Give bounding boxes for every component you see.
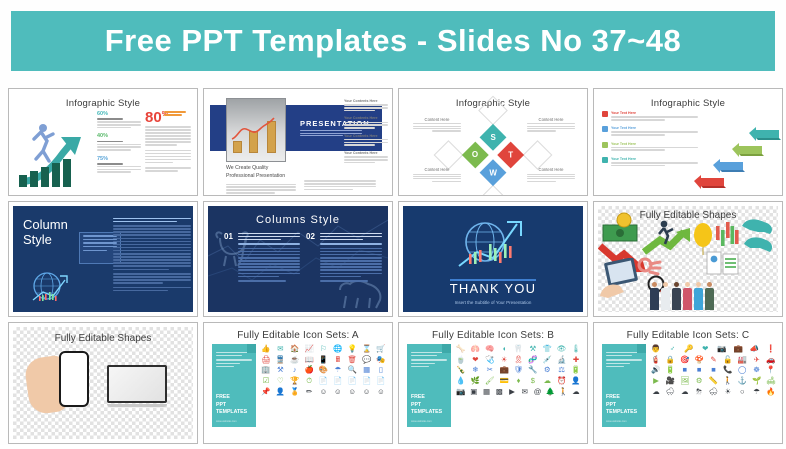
printer-icon[interactable]: 🖨 [261,356,271,364]
icon-row: 🔊🔋■■■📞◯☸📍 [651,366,776,374]
slide-thumbnail-42[interactable]: Columns Style 01 02 [203,201,393,317]
trophy-icon[interactable]: 🏅 [290,388,300,396]
camera-icon[interactable]: 📷 [456,388,466,396]
arrow-3d-teal [749,125,783,141]
cloud-icon[interactable]: ☁ [542,377,552,385]
camera-icon[interactable]: 📷 [717,345,727,353]
swot-caption-br: Content Here [527,167,575,183]
smile-icon[interactable]: ☺ [319,388,329,396]
sofa-icon[interactable]: 🛋 [766,377,776,385]
megaphone-icon[interactable]: 📣 [750,345,760,353]
arrow-3d-green [732,141,766,157]
corner-notch [637,344,646,353]
bullet-item: Your Text Here [602,142,698,153]
dollar-icon[interactable]: $ [528,377,538,385]
snowflake-icon[interactable]: ❄ [470,366,480,374]
extinguisher-icon[interactable]: 🧯 [651,356,661,364]
list-item: Your Contents Here [344,134,388,146]
bullet-marker-icon [602,111,608,117]
smile-icon[interactable]: ☺ [333,388,343,396]
cart-icon[interactable]: 🛒 [376,345,386,353]
swot-caption-tl: Content Here [413,117,461,133]
building-icon[interactable]: 🏢 [261,366,271,374]
arrow-3d-blue [713,157,747,173]
frame-icon[interactable]: ▯ [376,366,386,374]
file-icon[interactable]: 📄 [319,377,329,385]
facebook-icon[interactable]: ▦ [482,388,492,396]
bullet-label: Your Text Here [611,126,698,130]
icon-row: 🖨🚆☕📖📱🖩🗑💬🎭 [261,356,386,364]
smile-icon[interactable]: ☺ [362,388,372,396]
clock-icon[interactable]: ⏰ [557,377,567,385]
battery-icon[interactable]: ■ [709,366,719,374]
slide-37-title: Infographic Style [9,98,197,109]
envelope-icon[interactable]: ✉ [275,345,285,353]
caption-text: We Create Quality Professional Presentat… [226,165,296,181]
brand-name: FREEPPTTEMPLATES [606,394,637,417]
icon-row: 📷▣▦▩▶✉@🌲🚶☁ [456,388,581,396]
flask-icon[interactable]: 💧 [456,377,466,385]
column-number-01: 01 [224,232,233,241]
businessman-icon [656,220,674,246]
umbrella-icon[interactable]: ☂ [333,366,343,374]
swot-s[interactable]: S [480,124,507,151]
battery-icon[interactable]: ■ [680,366,690,374]
icon-grid: 👍✉🏠📈⚐🌐💡⌛🛒 🖨🚆☕📖📱🖩🗑💬🎭 🏢⚒♪🍎🎨☂🔍▦▯ ☑♡🏆⏱📄📄📄📄📄 [261,345,386,398]
right-content-list: Your Contents Here Your Contents Here Yo… [344,99,388,165]
icon-row: 🏢⚒♪🍎🎨☂🔍▦▯ [261,366,386,374]
flag-icon[interactable]: ⚐ [319,345,329,353]
template-gallery-page: Free PPT Templates - Slides No 37~48 Inf… [0,0,786,445]
bulb-icon[interactable]: 💡 [347,345,357,353]
icon-row: 🧯🔒🎯🍄✎🔓🏭✈🚗 [651,356,776,364]
target-icon[interactable]: 🎯 [680,356,690,364]
plane-icon[interactable]: ✈ [752,356,762,364]
file-icon[interactable]: 📄 [333,377,343,385]
smartphone-mockup [59,351,89,407]
moon-icon[interactable]: ○ [737,388,747,396]
shield-icon[interactable]: 🛡 [514,366,524,374]
liver-icon[interactable]: ◖ [499,345,509,353]
tree-icon[interactable]: ⚒ [528,345,538,353]
transparent-canvas: Fully Editable Shapes [598,206,778,312]
icon-row: ☁🌧☁⛈🌨☀○☂🔥 [651,388,776,396]
phone-icon[interactable]: 📱 [319,356,329,364]
icon-row: 👍✉🏠📈⚐🌐💡⌛🛒 [261,345,386,353]
mask-icon[interactable]: 🎭 [376,356,386,364]
brand-name: FREEPPTTEMPLATES [411,394,442,417]
secondary-column [304,179,376,191]
paint-icon[interactable]: 🎨 [319,366,329,374]
person [672,282,681,310]
play-icon[interactable]: ▶ [651,377,661,385]
person-icon[interactable]: 👤 [275,388,285,396]
navy-background: THANK YOU Insert the Subtitle of Your Pr… [403,206,583,312]
page-title: Free PPT Templates - Slides No 37~48 [105,23,682,59]
documents-icon [706,250,740,276]
icon-grid: 🦴🫁🧠◖🦷⚒👕👁🌡 🍵❤🩺☀🎗🧬💉🔬✚ 🍾❄✂💼🛡🔧⚙⚖🔋 💧🌿🖌💳♦$☁⏰👤 … [456,345,581,398]
brand-url: www.website.com [411,420,432,423]
gear-icon[interactable]: ⚙ [694,377,704,385]
syringe-icon[interactable]: 💉 [542,356,552,364]
search-icon[interactable]: 🔍 [347,366,357,374]
cloud-icon[interactable]: ☁ [651,388,661,396]
thank-you-subtitle: Insert the Subtitle of Your Presentation [403,300,583,305]
trophy-icon[interactable]: 🏆 [290,377,300,385]
pin-icon[interactable]: 📌 [261,388,271,396]
plant-icon[interactable]: 🌱 [752,377,762,385]
key-icon[interactable]: 🔑 [684,345,694,353]
male-icon[interactable]: ♂ [667,345,677,353]
brand-name: FREEPPTTEMPLATES [216,394,247,417]
thank-you-title: THANK YOU [403,281,583,296]
icon-row: 💧🌿🖌💳♦$☁⏰👤 [456,377,581,385]
slide-41-title: ColumnStyle [23,218,68,248]
file-icon[interactable]: 📄 [362,377,372,385]
image-icon[interactable]: 🖼 [680,377,690,385]
slide-thumbnail-37[interactable]: Infographic Style 60% [8,88,198,196]
drop-icon[interactable]: ♦ [514,377,524,385]
bull-bear-icon [740,214,774,254]
slide-thumbnail-47[interactable]: Fully Editable Icon Sets: B FREEPPTTEMPL… [398,322,588,444]
file-icon[interactable]: 📄 [347,377,357,385]
bullet-item: Your Text Here [602,157,698,168]
bar-chart [19,159,71,187]
stat-list: 60% 40% 75% [97,111,141,174]
circle-icon[interactable]: ◯ [737,366,747,374]
person-icon[interactable]: 👤 [571,377,581,385]
fan-icon[interactable]: ☸ [752,366,762,374]
bullet-label: Your Text Here [611,157,698,161]
swot-caption-bl: Content Here [413,167,461,183]
home-icon[interactable]: 🏠 [290,345,300,353]
slide-40-title: Infographic Style [594,98,782,109]
column-body-01 [238,231,300,283]
scissors-icon[interactable]: ✂ [485,366,495,374]
gear-icon[interactable]: ⚙ [542,366,552,374]
grid-icon[interactable]: ▦ [362,366,372,374]
battery-icon[interactable]: ■ [694,366,704,374]
checkbox-icon[interactable]: ☑ [261,377,271,385]
trash-icon[interactable]: 🗑 [347,356,357,364]
swot-caption-tr: Content Here [527,117,575,133]
icon-row: 📌👤🏅✏☺☺☺☺☺ [261,388,386,396]
swot-o[interactable]: W [480,159,507,186]
cross-icon[interactable]: ✚ [571,356,581,364]
sun-icon[interactable]: ☀ [723,388,733,396]
slide-thumbnail-44[interactable]: Fully Editable Shapes [593,201,783,317]
car-icon[interactable]: 🚗 [766,356,776,364]
phone-icon[interactable]: 📞 [723,366,733,374]
stat-item: 60% [97,111,141,128]
instagram-icon[interactable]: ▣ [469,388,479,396]
arrow-3d-red [694,173,728,189]
youtube-icon[interactable]: ▶ [507,388,517,396]
alert-icon[interactable]: ❗ [766,345,776,353]
person [661,282,670,310]
umbrella-icon[interactable]: ☂ [752,388,762,396]
stat-percent: 75% [97,156,141,162]
icon-row: 👨♂🔑❤📷💼📣❗ [651,345,776,353]
laptop-mockup [107,365,167,407]
bullet-label: Your Text Here [611,111,698,115]
snow-icon[interactable]: 🌨 [709,388,719,396]
globe-chart-icon [443,214,543,276]
highlight-caption [164,110,192,117]
ribbon-icon[interactable]: 🎗 [514,356,524,364]
trend-line-icon [230,115,282,143]
brush-icon[interactable]: 🖌 [485,377,495,385]
bone-icon[interactable]: 🦴 [456,345,466,353]
anchor-icon[interactable]: ⚓ [737,377,747,385]
people-icon[interactable]: 👨 [651,345,661,353]
icon-row: 🍵❤🩺☀🎗🧬💉🔬✚ [456,356,581,364]
walk-icon[interactable]: 🚶 [558,388,568,396]
pin-icon[interactable]: 📍 [766,366,776,374]
thermometer-icon[interactable]: 🌡 [571,345,581,353]
cloud-icon[interactable]: ☁ [571,388,581,396]
bullet-list: Your Text Here Your Text Here [602,111,698,172]
card-icon[interactable]: 💳 [499,377,509,385]
brand-url: www.website.com [216,420,237,423]
slide-thumbnail-38[interactable]: PRESENTATION We Create Quality Professio… [203,88,393,196]
column-body-02 [320,231,382,283]
speaker-icon[interactable]: 🔊 [651,366,661,374]
slide-48-title: Fully Editable Icon Sets: C [594,330,782,341]
tooth-icon[interactable]: 🦷 [514,345,524,353]
heart-icon[interactable]: ❤ [700,345,710,353]
bag-icon[interactable]: 💼 [499,366,509,374]
lock-icon[interactable]: 🔓 [723,356,733,364]
storm-icon[interactable]: ⛈ [694,388,704,396]
swot-diagram: S T W O [462,124,524,186]
cup-icon[interactable]: ☕ [290,356,300,364]
body-copy [113,216,191,293]
bullet-label: Your Text Here [611,142,698,146]
thumb-up-icon[interactable]: 👍 [261,345,271,353]
bullet-marker-icon [602,142,608,148]
chart-icon[interactable]: 📈 [304,345,314,353]
stethoscope-icon[interactable]: 🩺 [485,356,495,364]
person [650,282,659,310]
factory-icon[interactable]: 🏭 [737,356,747,364]
clock-icon[interactable]: ⏱ [304,377,314,385]
file-icon[interactable]: 📄 [376,377,386,385]
at-icon[interactable]: @ [533,388,543,396]
chat-icon[interactable]: 💬 [362,356,372,364]
list-item: Your Contents Here [344,116,388,128]
list-item: Your Contents Here [344,99,388,111]
slide-42-title: Columns Style [208,214,388,226]
cloud-icon[interactable]: ☁ [680,388,690,396]
icon-row: ▶🎥🖼⚙📏🚶⚓🌱🛋 [651,377,776,385]
bullet-marker-icon [602,126,608,132]
bottle-icon[interactable]: 🍾 [456,366,466,374]
lungs-icon[interactable]: 🫁 [470,345,480,353]
brand-card: FREEPPTTEMPLATES www.website.com [602,344,646,427]
heart-icon[interactable]: ♡ [275,377,285,385]
brand-card: FREEPPTTEMPLATES www.website.com [407,344,451,427]
page-header-banner: Free PPT Templates - Slides No 37~48 [11,11,775,71]
coin-icon [616,212,632,228]
list-item: Your Contents Here [344,151,388,163]
slides-row-2: ColumnStyle [8,201,778,317]
icon-row: 🍾❄✂💼🛡🔧⚙⚖🔋 [456,366,581,374]
virus-icon[interactable]: ☀ [499,356,509,364]
slide-38-caption: We Create Quality Professional Presentat… [226,165,296,195]
scale-icon[interactable]: ⚖ [557,366,567,374]
battery-icon[interactable]: 🔋 [665,366,675,374]
brand-card: FREEPPTTEMPLATES www.website.com [212,344,256,427]
brand-url: www.website.com [606,420,627,423]
swot-t[interactable]: T [497,142,524,169]
stat-item: 75% [97,156,141,173]
rain-icon[interactable]: 🌧 [665,388,675,396]
globe-chart-icon [27,266,79,308]
mail-icon[interactable]: ✉ [520,388,530,396]
navy-background: Columns Style 01 02 [208,206,388,312]
slide-thumbnail-41[interactable]: ColumnStyle [8,201,198,317]
microscope-icon[interactable]: 🔬 [557,356,567,364]
heart-icon[interactable]: ❤ [470,356,480,364]
person [683,282,692,310]
person [705,282,714,310]
lock-icon[interactable]: 🔒 [665,356,675,364]
stat-percent: 40% [97,133,141,139]
icon-row: ☑♡🏆⏱📄📄📄📄📄 [261,377,386,385]
corner-notch [442,344,451,353]
slide-thumbnail-46[interactable]: Fully Editable Icon Sets: A FREEPPTTEMPL… [203,322,393,444]
video-icon[interactable]: 🎥 [665,377,675,385]
pencil-icon[interactable]: ✏ [304,388,314,396]
book-icon[interactable]: 📖 [304,356,314,364]
shirt-icon[interactable]: 👕 [542,345,552,353]
smile-icon[interactable]: ☺ [347,388,357,396]
people-group [650,282,714,310]
ruler-icon[interactable]: 📏 [709,377,719,385]
bullet-item: Your Text Here [602,126,698,137]
tools-icon[interactable]: ⚒ [275,366,285,374]
bullet-marker-icon [602,157,608,163]
smile-icon[interactable]: ☺ [376,388,386,396]
icon-row: 🦴🫁🧠◖🦷⚒👕👁🌡 [456,345,581,353]
column-number-02: 02 [306,232,315,241]
twitter-icon[interactable]: ▩ [494,388,504,396]
bullet-item: Your Text Here [602,111,698,122]
person-icon[interactable]: 🚶 [723,377,733,385]
dna-icon[interactable]: 🧬 [528,356,538,364]
blood-icon[interactable]: 🍵 [456,356,466,364]
corner-notch [247,344,256,353]
slides-grid: Infographic Style 60% [8,88,778,449]
slide-thumbnail-39[interactable]: Infographic Style S T W O Content Here C [398,88,588,196]
swot-w[interactable]: O [462,142,489,169]
bag-icon[interactable]: 💼 [733,345,743,353]
body-copy [145,125,191,173]
brain-icon[interactable]: 🧠 [485,345,495,353]
pen-icon[interactable]: ✎ [709,356,719,364]
slides-row-1: Infographic Style 60% [8,88,778,196]
candlestick-chart-icon [714,220,740,254]
tools-icon[interactable]: 🔧 [528,366,538,374]
calculator-icon[interactable]: 🖩 [333,356,343,364]
leaf-icon[interactable]: 🌿 [470,377,480,385]
slide-thumbnail-43[interactable]: THANK YOU Insert the Subtitle of Your Pr… [398,201,588,317]
apple-icon[interactable]: 🍎 [304,366,314,374]
slide-47-title: Fully Editable Icon Sets: B [399,330,587,341]
fire-icon[interactable]: 🔥 [766,388,776,396]
slides-row-3: Fully Editable Shapes Fully Editable Ico… [8,322,778,444]
stat-percent: 60% [97,111,141,117]
person [694,282,703,310]
train-icon[interactable]: 🚆 [275,356,285,364]
slide-thumbnail-48[interactable]: Fully Editable Icon Sets: C FREEPPTTEMPL… [593,322,783,444]
icon-grid: 👨♂🔑❤📷💼📣❗ 🧯🔒🎯🍄✎🔓🏭✈🚗 🔊🔋■■■📞◯☸📍 ▶🎥🖼⚙📏🚶⚓🌱🛋 ☁… [651,345,776,398]
slide-thumbnail-40[interactable]: Infographic Style Your Text Here Your Te… [593,88,783,196]
globe-icon[interactable]: 🌐 [333,345,343,353]
eye-icon[interactable]: 👁 [557,345,567,353]
hourglass-icon[interactable]: ⌛ [362,345,372,353]
music-icon[interactable]: ♪ [290,366,300,374]
slide-45-title: Fully Editable Shapes [13,333,193,344]
tree-icon[interactable]: 🍄 [694,356,704,364]
slide-46-title: Fully Editable Icon Sets: A [204,330,392,341]
transparent-canvas: Fully Editable Shapes [13,327,193,439]
slide-thumbnail-45[interactable]: Fully Editable Shapes [8,322,198,444]
stat-item: 40% [97,133,141,150]
battery-icon[interactable]: 🔋 [571,366,581,374]
tree-icon[interactable]: 🌲 [545,388,555,396]
coin-stack-photo [226,98,286,162]
